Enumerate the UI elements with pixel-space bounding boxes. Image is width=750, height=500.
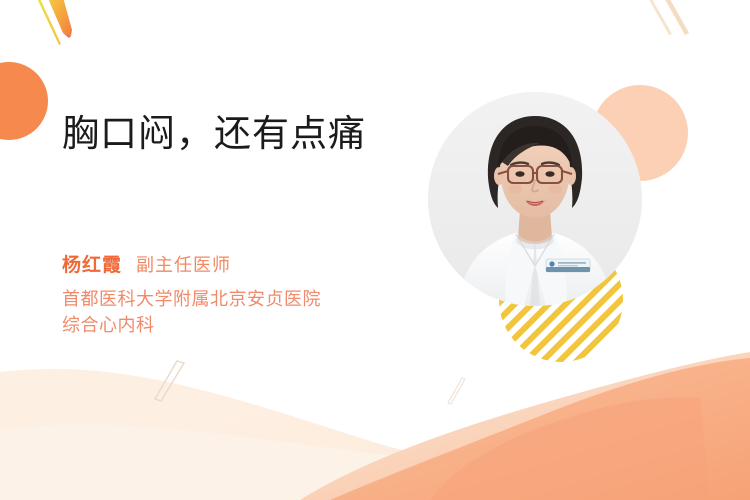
left-orange-circle [0,62,48,140]
top-right-beige-line-1 [646,0,672,35]
doctor-professional-title: 副主任医师 [136,251,231,277]
top-left-orange-ribbon [45,0,72,36]
video-cover-card: 胸口闷，还有点痛 杨红霞 副主任医师 首都医科大学附属北京安贞医院 综合心内科 [0,0,750,500]
bottom-cream-wave [0,369,750,500]
salmon-wave-inner-lobe [430,398,710,500]
coat-name-badge [546,259,590,272]
bottom-pale-wave [0,420,750,500]
doctor-photo-circle [428,92,642,306]
doctor-portrait-illustration [428,92,642,306]
doctor-department: 综合心内科 [62,312,422,338]
outlined-diagonal-bar [155,361,184,401]
page-title: 胸口闷，还有点痛 [62,108,422,160]
text-content-block: 胸口闷，还有点痛 杨红霞 副主任医师 首都医科大学附属北京安贞医院 综合心内科 [62,108,422,338]
doctor-identity-line: 杨红霞 副主任医师 [62,250,422,277]
doctor-photo-block [428,92,642,306]
faint-diagonal-stroke [448,378,465,404]
top-left-yellow-line [34,0,61,45]
top-right-beige-line-2 [662,0,689,35]
top-left-orange-ribbon-tip [63,33,71,38]
bottom-right-salmon-wave-back [300,352,750,500]
doctor-hospital: 首都医科大学附属北京安贞医院 [62,286,422,312]
doctor-name: 杨红霞 [62,250,122,277]
bottom-right-salmon-wave-front [330,358,750,500]
